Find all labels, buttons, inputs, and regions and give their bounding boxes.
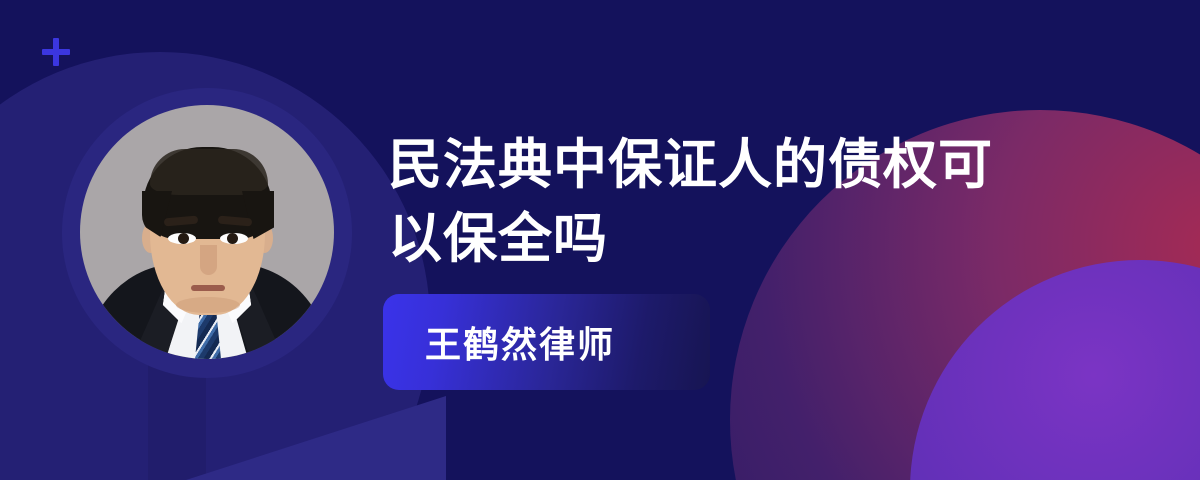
- lawyer-qa-banner-card: 民法典中保证人的债权可 以保全吗 王鹤然律师: [0, 0, 1200, 480]
- portrait-pupil-left: [178, 233, 189, 244]
- avatar: [80, 105, 334, 359]
- avatar-ring: [62, 88, 352, 378]
- lawyer-name-label: 王鹤然律师: [425, 316, 615, 368]
- portrait-pupil-right: [227, 233, 238, 244]
- portrait-hair-highlight: [150, 149, 268, 195]
- portrait-chin-shadow: [176, 297, 240, 313]
- page-title: 民法典中保证人的债权可 以保全吗: [388, 128, 1148, 276]
- lawyer-name-badge[interactable]: 王鹤然律师: [383, 294, 710, 390]
- plus-icon: [42, 38, 70, 66]
- violet-gradient-blob: [910, 260, 1200, 480]
- portrait-mouth: [191, 285, 225, 291]
- portrait-nose: [200, 245, 217, 275]
- triangle-wedge-shape: [186, 396, 446, 480]
